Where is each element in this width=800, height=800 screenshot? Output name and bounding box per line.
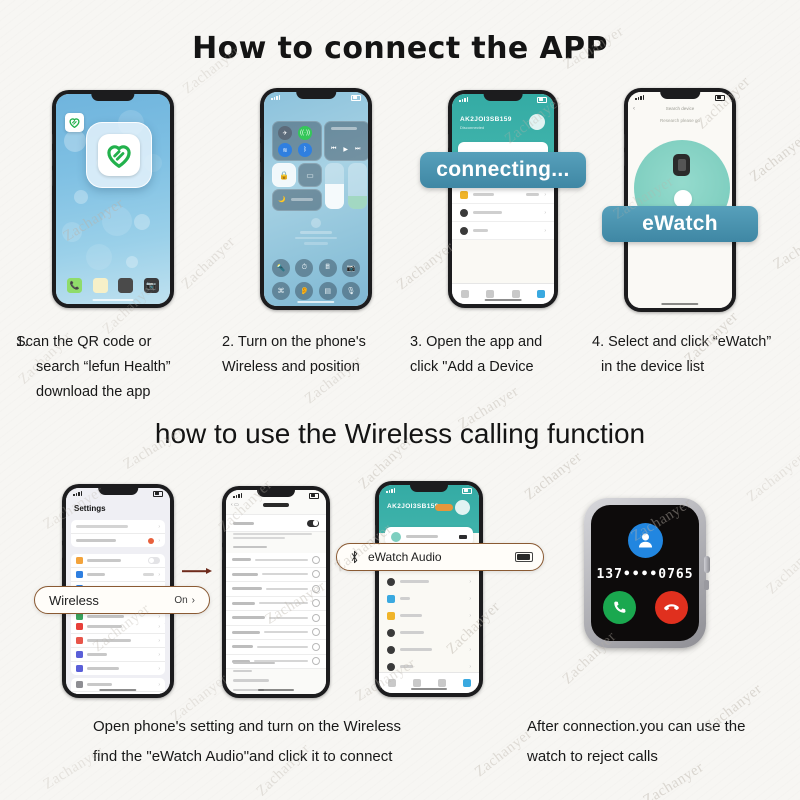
caption-step-3: 3. Open the app and click "Add a Device <box>410 330 600 380</box>
chevron-right-icon: › <box>192 595 195 606</box>
watermark-text: Zachanyer <box>744 451 800 506</box>
other-devices-list <box>233 670 319 691</box>
phone-button-mute <box>260 128 261 137</box>
settings-row-airplane-mode[interactable] <box>71 554 165 568</box>
signal-icon <box>459 97 468 102</box>
caption-step-4-line-1: Select and click “eWatch” <box>608 334 771 350</box>
callout-wireless[interactable]: Wireless On › <box>34 586 210 614</box>
caption-step-3-line-2: click "Add a Device <box>410 355 600 380</box>
phone-button-volume-down <box>222 547 223 560</box>
phone-home-screen: 📞 📷 <box>52 90 174 308</box>
screen-time-icon <box>76 665 83 672</box>
phone-button-volume-down <box>52 170 53 186</box>
phone-button-volume-down <box>260 162 261 177</box>
about-icon <box>460 227 468 235</box>
avatar[interactable] <box>529 114 545 130</box>
bluetooth-device-row[interactable] <box>226 626 326 641</box>
target-steps-icon <box>387 612 395 620</box>
status-bar <box>66 489 170 498</box>
callout-wireless-value: On <box>174 595 187 606</box>
lefun-health-app-icon-zoom[interactable] <box>86 122 152 188</box>
callout-ewatch-audio-label: eWatch Audio <box>368 550 515 564</box>
signal-icon <box>635 95 644 100</box>
phone-3-screen: AK2JOI3SB159 Disconnected › › › <box>452 94 554 304</box>
control-center-shortcuts-row-2: ⌘ 👂 ▤ 🎙 <box>272 282 360 300</box>
lefun-health-app-icon-small[interactable] <box>65 113 84 132</box>
list-item[interactable]: › <box>379 573 479 590</box>
settings-row-apple-id[interactable]: › <box>71 520 165 534</box>
profile-tab[interactable] <box>463 679 471 687</box>
list-item[interactable]: › <box>452 186 554 204</box>
decline-call-button[interactable] <box>655 591 688 624</box>
caption-step-1: Scan the QR code or search “lefun Health… <box>16 330 206 405</box>
home-indicator <box>411 688 447 690</box>
focus-icon <box>76 651 83 658</box>
watch-screen: 137••••0765 <box>591 505 699 641</box>
list-item[interactable]: › <box>452 204 554 222</box>
caption-step-1-number: 1. <box>16 330 28 355</box>
phone-bluetooth-list: ‹ ▭ <box>222 486 330 698</box>
device-id-label: AK2JOI3SB159 <box>460 116 512 123</box>
status-bar <box>628 93 732 102</box>
flashlight-icon[interactable]: 🔦 <box>272 259 290 277</box>
phone-button-volume-down <box>62 545 63 558</box>
caption-step-1-line-2: search “lefun Health” <box>16 355 206 380</box>
settings-title: Settings <box>74 504 106 513</box>
phone-notch <box>91 94 134 101</box>
volume-slider[interactable] <box>348 163 367 209</box>
status-bar <box>379 486 479 495</box>
list-item[interactable]: › <box>379 590 479 607</box>
signal-icon <box>233 493 242 498</box>
home-tab[interactable] <box>388 679 396 687</box>
battery-icon <box>153 491 163 497</box>
home-indicator <box>661 303 698 305</box>
control-center-shortcuts-row-1: 🔦 ⏱ 🖩 📷 <box>272 259 360 277</box>
bluetooth-toggle-row[interactable] <box>226 514 326 532</box>
voice-memo-icon[interactable]: 🎙 <box>342 282 360 300</box>
settings-group-system: › › › › <box>71 620 165 675</box>
timer-icon[interactable]: ⏱ <box>295 259 313 277</box>
battery-icon <box>715 95 725 101</box>
device-avatar-icon <box>391 532 401 542</box>
airplane-mode-icon[interactable]: ✈ <box>278 126 292 140</box>
watermark-text: Zachanyer <box>522 449 586 504</box>
general-gear-icon <box>76 681 83 688</box>
battery-icon <box>309 493 319 499</box>
cellular-data-icon[interactable]: ((·)) <box>298 126 312 140</box>
list-item[interactable]: › <box>379 624 479 641</box>
caption-wireless-setup: Open phone's setting and turn on the Wir… <box>93 712 493 772</box>
target-steps-icon <box>460 191 468 199</box>
screen-mirroring-icon[interactable]: ▭ <box>298 163 322 187</box>
status-bar <box>226 491 326 500</box>
camera-icon[interactable]: 📷 <box>144 278 159 293</box>
phone-button-volume-up <box>52 150 53 166</box>
page-title-wireless-calling: how to use the Wireless calling function <box>0 418 800 450</box>
settings-row-suggestions[interactable]: › <box>71 534 165 547</box>
scan-subtitle: Research please go <box>628 118 732 123</box>
previous-track-icon[interactable]: ⏮ <box>331 146 336 153</box>
caption-step-1-line-1: Scan the QR code or <box>16 330 206 355</box>
now-playing-tile[interactable]: ⏮ ▶ ⏭ <box>324 121 368 161</box>
phone-button-volume-up <box>375 525 376 538</box>
phone-button-power <box>174 542 175 561</box>
callout-ewatch-audio[interactable]: eWatch Audio <box>336 543 544 571</box>
phone-button-volume-up <box>448 134 449 148</box>
home-indicator <box>99 689 136 691</box>
bluetooth-icon <box>347 549 361 565</box>
app-feature-list: › › › › › › <box>379 573 479 675</box>
bluetooth-icon[interactable]: ᛒ <box>298 143 312 157</box>
phone-control-center: ✈ ((·)) ≋ ᛒ ⏮ ▶ ⏭ 🔒 ▭ 🌙 <box>260 88 372 310</box>
battery-icon <box>462 488 472 494</box>
orientation-lock-icon[interactable]: 🔒 <box>272 163 296 187</box>
phone-1-screen: 📞 📷 <box>56 94 170 304</box>
back-to-settings-link[interactable]: ‹ ▭ <box>231 502 239 508</box>
smartwatch: 137••••0765 <box>584 498 706 648</box>
caption-step-2-line-2: Wireless and position <box>222 355 422 380</box>
battery-icon <box>351 95 361 101</box>
watch-side-button[interactable] <box>704 580 709 590</box>
profile-tab[interactable] <box>537 290 545 298</box>
settings-group-account: › › <box>71 520 165 547</box>
caption-step-4: 4. Select and click “eWatch” in the devi… <box>592 330 800 380</box>
brightness-slider[interactable] <box>325 163 344 209</box>
callout-wireless-value-group: On › <box>174 595 195 606</box>
about-icon <box>387 663 395 671</box>
home-indicator <box>297 301 334 303</box>
wifi-icon <box>76 571 83 578</box>
caption-wireless-setup-line-2: find the "eWatch Audio"and click it to c… <box>93 742 493 772</box>
battery-badge-icon <box>515 552 533 562</box>
camera-icon[interactable]: 📷 <box>342 259 360 277</box>
settings-row-wifi[interactable]: › <box>71 568 165 582</box>
bluetooth-device-row[interactable] <box>226 640 326 655</box>
home-indicator <box>485 299 522 301</box>
bluetooth-device-row[interactable] <box>226 553 326 568</box>
caption-wireless-setup-line-1: Open phone's setting and turn on the Wir… <box>93 712 493 742</box>
avatar[interactable] <box>455 500 470 515</box>
shortcuts-icon[interactable]: ⌘ <box>272 282 290 300</box>
bluetooth-toggle[interactable] <box>307 520 319 527</box>
watermark-text: Zachanyer <box>771 223 800 273</box>
settings-row-screen-time[interactable]: › <box>71 662 165 675</box>
messages-icon[interactable] <box>93 278 108 293</box>
focus-tile[interactable]: 🌙 <box>272 189 322 211</box>
settings-row-focus[interactable]: › <box>71 648 165 662</box>
phone-4-screen: ‹ Search device Research please go <box>628 92 732 308</box>
wifi-icon[interactable]: ≋ <box>278 143 292 157</box>
device-id-label: AK2JOI3SB159 <box>387 503 439 510</box>
sport-tab[interactable] <box>512 290 520 298</box>
home-dock: 📞 📷 <box>62 275 164 295</box>
phone-button-power <box>736 148 737 168</box>
hotspot-icon <box>76 613 83 620</box>
control-center-hint <box>286 218 346 245</box>
battery-icon <box>537 97 547 103</box>
phone-7-screen: AK2JOI3SB159 › › › <box>379 485 479 693</box>
wallet-icon[interactable]: ▤ <box>319 282 337 300</box>
watermark-text: Zachanyer <box>179 234 240 293</box>
home-indicator <box>92 299 133 301</box>
battery-badge <box>435 504 453 511</box>
caption-reject-calls-line-1: After connection.you can use the <box>527 712 797 742</box>
phone-button-power <box>372 150 373 170</box>
calculator-icon[interactable]: 🖩 <box>319 259 337 277</box>
phone-button-volume-up <box>624 134 625 148</box>
next-track-icon[interactable]: ⏭ <box>355 146 360 153</box>
phone-button-volume-down <box>624 152 625 166</box>
settings-row-control-center[interactable]: › <box>71 692 165 694</box>
caption-step-2-body: 2. Turn on the phone's Wireless and posi… <box>222 330 422 380</box>
phone-button-mute <box>52 134 53 144</box>
settings-row-sounds[interactable]: › <box>71 634 165 648</box>
caller-avatar-icon <box>628 523 663 558</box>
caption-step-4-number: 4. <box>592 334 604 350</box>
bluetooth-title <box>263 503 289 506</box>
answer-call-button[interactable] <box>603 591 636 624</box>
phone-button-volume-up <box>260 143 261 158</box>
phone-6-screen: ‹ ▭ <box>226 490 326 694</box>
caption-step-3-line-1: Open the app and <box>426 334 542 350</box>
sedentary-reminder-icon <box>387 646 395 654</box>
callout-ewatch: eWatch <box>602 206 758 242</box>
settings-group-general: › › › › <box>71 678 165 694</box>
list-item[interactable]: › <box>379 641 479 658</box>
arrow-settings-to-bluetooth <box>182 567 212 575</box>
caption-step-4-line-2: in the device list <box>592 355 800 380</box>
phone-icon[interactable]: 📞 <box>67 278 82 293</box>
data-tab[interactable] <box>413 679 421 687</box>
list-item[interactable]: › <box>452 222 554 240</box>
settings-row-notifications[interactable]: › <box>71 620 165 634</box>
sport-tab[interactable] <box>438 679 446 687</box>
home-indicator <box>258 689 294 691</box>
found-device-icon[interactable] <box>673 154 690 176</box>
phone-button-power <box>330 544 331 563</box>
bluetooth-device-row[interactable] <box>226 611 326 626</box>
data-tab[interactable] <box>486 290 494 298</box>
caption-step-2-line-1: Turn on the phone's <box>238 334 366 350</box>
status-bar <box>452 95 554 104</box>
bluetooth-nav-bar: ‹ ▭ <box>226 499 326 511</box>
bluetooth-device-row[interactable] <box>226 597 326 612</box>
phone-button-power <box>174 156 175 178</box>
signal-icon <box>73 491 82 496</box>
dial-icon <box>387 595 395 603</box>
sounds-icon <box>76 637 83 644</box>
call-action-row <box>603 591 688 624</box>
phone-button-volume-up <box>222 530 223 543</box>
signal-icon <box>386 488 395 493</box>
phone-device-scan: ‹ Search device Research please go <box>624 88 736 312</box>
app-feature-list: › › › <box>452 186 554 240</box>
airplane-mode-icon <box>76 557 83 564</box>
hearing-icon[interactable]: 👂 <box>295 282 313 300</box>
caption-step-1-line-3: download the app <box>16 380 206 405</box>
scan-title: Search device <box>628 106 732 111</box>
callout-wireless-label: Wireless <box>49 593 174 608</box>
watch-crown[interactable] <box>704 556 710 573</box>
device-settings-icon <box>387 578 395 586</box>
safari-icon[interactable] <box>118 278 133 293</box>
battery-icon <box>459 535 467 539</box>
signal-icon <box>271 95 280 100</box>
phone-2-screen: ✈ ((·)) ≋ ᛒ ⏮ ▶ ⏭ 🔒 ▭ 🌙 <box>264 92 368 306</box>
airplane-mode-toggle[interactable] <box>148 557 160 564</box>
status-bar <box>264 93 368 102</box>
callout-connecting: connecting... <box>420 152 586 188</box>
play-icon[interactable]: ▶ <box>343 146 348 153</box>
page-title-connect-app: How to connect the APP <box>0 31 800 66</box>
caption-step-2-number: 2. <box>222 334 234 350</box>
device-status-label: Disconnected <box>460 125 484 130</box>
bluetooth-device-list <box>226 553 326 669</box>
caption-reject-calls: After connection.you can use the watch t… <box>527 712 797 772</box>
find-phone-icon <box>387 629 395 637</box>
sedentary-reminder-icon <box>460 209 468 217</box>
bluetooth-hint <box>233 533 319 539</box>
home-tab[interactable] <box>461 290 469 298</box>
bluetooth-device-row[interactable] <box>226 582 326 597</box>
phone-button-volume-up <box>62 528 63 541</box>
caption-step-3-number: 3. <box>410 334 422 350</box>
phone-app-connected: AK2JOI3SB159 › › › <box>375 481 483 697</box>
watermark-text: Zachanyer <box>747 131 800 186</box>
phone-app-connecting: AK2JOI3SB159 Disconnected › › › <box>448 90 558 308</box>
caption-reject-calls-line-2: watch to reject calls <box>527 742 797 772</box>
list-item[interactable]: › <box>379 607 479 624</box>
notifications-icon <box>76 623 83 630</box>
watermark-text: Zachanyer <box>764 539 800 598</box>
connectivity-tile[interactable]: ✈ ((·)) ≋ ᛒ <box>272 121 322 161</box>
caller-number: 137••••0765 <box>596 567 693 582</box>
bluetooth-device-row[interactable] <box>226 568 326 583</box>
